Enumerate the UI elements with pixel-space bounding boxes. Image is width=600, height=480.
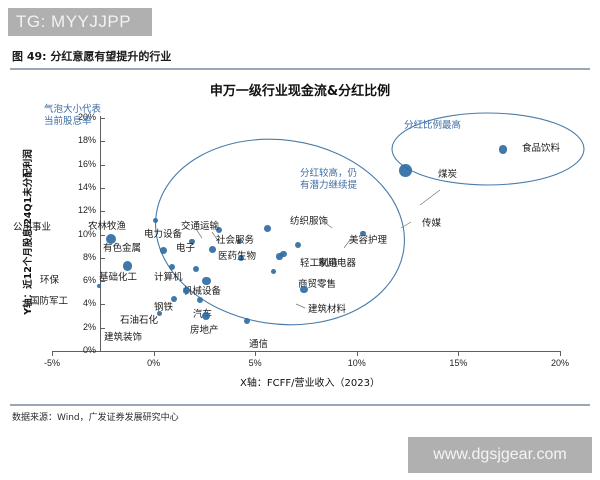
data-point-label: 传媒 — [422, 215, 441, 229]
data-point-bubble[interactable] — [97, 284, 101, 288]
data-point-label: 医药生物 — [218, 248, 256, 262]
data-point-bubble[interactable] — [360, 231, 366, 237]
y-tick-mark — [101, 165, 105, 166]
x-tick-label: 5% — [235, 358, 275, 368]
data-point-label: 国防军工 — [30, 293, 68, 307]
data-point-label: 家用电器 — [318, 255, 356, 269]
data-point-label: 食品饮料 — [522, 140, 560, 154]
highest-payout-annotation: 分红比例最高 — [404, 120, 461, 132]
data-point-bubble[interactable] — [244, 318, 250, 324]
y-tick-mark — [101, 304, 105, 305]
data-point-label: 有色金属 — [103, 240, 141, 254]
data-point-label: 石油石化 — [120, 312, 158, 326]
y-tick-label: 14% — [62, 182, 96, 192]
data-point-bubble[interactable] — [295, 242, 301, 248]
figure-root: TG: MYYJJPP 图 49: 分红意愿有望提升的行业 申万一级行业现金流&… — [0, 0, 600, 480]
data-point-label: 纺织服饰 — [290, 213, 328, 227]
figure-caption: 图 49: 分红意愿有望提升的行业 — [12, 48, 171, 64]
data-point-bubble[interactable] — [157, 311, 162, 316]
x-axis-title: X轴：FCFF/营业收入（2023） — [150, 374, 470, 389]
data-point-bubble[interactable] — [300, 286, 307, 293]
y-tick-mark — [101, 351, 105, 352]
x-tick-mark — [458, 352, 459, 356]
x-tick-label: -5% — [32, 358, 72, 368]
data-point-bubble[interactable] — [209, 246, 216, 253]
y-tick-mark — [101, 211, 105, 212]
data-point-bubble[interactable] — [264, 225, 271, 232]
y-tick-label: 6% — [62, 275, 96, 285]
footer-divider — [10, 404, 590, 406]
ellipse-overlay — [0, 0, 600, 480]
y-tick-label: 18% — [62, 135, 96, 145]
data-point-bubble[interactable] — [193, 266, 199, 272]
data-point-label: 电力设备 — [144, 226, 182, 240]
x-tick-label: 10% — [337, 358, 377, 368]
data-point-label: 公用事业 — [13, 219, 51, 233]
y-tick-label: 2% — [62, 322, 96, 332]
x-tick-mark — [560, 352, 561, 356]
x-tick-mark — [154, 352, 155, 356]
data-point-label: 建筑材料 — [308, 301, 346, 315]
x-tick-mark — [52, 352, 53, 356]
data-point-bubble[interactable] — [153, 218, 158, 223]
y-tick-mark — [101, 235, 105, 236]
data-point-bubble[interactable] — [399, 164, 412, 177]
data-point-bubble[interactable] — [171, 296, 177, 302]
y-tick-mark — [101, 118, 105, 119]
data-point-label: 农林牧渔 — [88, 218, 126, 232]
y-tick-mark — [101, 141, 105, 142]
x-axis-line — [52, 351, 561, 352]
bubble-size-note: 气泡大小代表 当前股息率 — [44, 104, 101, 128]
y-tick-label: 0% — [62, 345, 96, 355]
y-tick-label: 16% — [62, 159, 96, 169]
x-tick-mark — [255, 352, 256, 356]
data-point-label: 建筑装饰 — [104, 329, 142, 343]
y-tick-label: 8% — [62, 252, 96, 262]
bottom-watermark: www.dgsjgear.com — [408, 437, 592, 473]
data-point-label: 基础化工 — [99, 269, 137, 283]
data-point-label: 电子 — [176, 240, 195, 254]
x-tick-label: 20% — [540, 358, 580, 368]
data-point-label: 交通运输 — [181, 218, 219, 232]
y-tick-mark — [101, 258, 105, 259]
chart-title: 申万一级行业现金流&分红比例 — [0, 80, 600, 99]
top-watermark: TG: MYYJJPP — [8, 8, 152, 36]
data-point-label: 环保 — [40, 272, 59, 286]
data-point-label: 房地产 — [190, 322, 219, 336]
data-point-label: 计算机 — [154, 269, 183, 283]
x-tick-label: 15% — [438, 358, 478, 368]
data-point-bubble[interactable] — [197, 297, 203, 303]
data-point-label: 社会服务 — [216, 232, 254, 246]
potential-annotation: 分红较高，仍 有潜力继续提 — [300, 168, 357, 192]
data-point-bubble[interactable] — [499, 145, 507, 153]
x-tick-label: 0% — [134, 358, 174, 368]
data-point-label: 通信 — [249, 336, 268, 350]
y-tick-label: 12% — [62, 205, 96, 215]
caption-divider — [10, 68, 590, 70]
data-point-bubble[interactable] — [160, 247, 167, 254]
x-tick-mark — [357, 352, 358, 356]
data-point-label: 美容护理 — [349, 232, 387, 246]
data-point-bubble[interactable] — [271, 269, 276, 274]
y-tick-mark — [101, 188, 105, 189]
data-point-bubble[interactable] — [183, 287, 190, 294]
data-point-bubble[interactable] — [280, 251, 286, 257]
source-note: 数据来源：Wind，广发证券发展研究中心 — [12, 410, 179, 423]
data-point-label: 煤炭 — [438, 166, 457, 180]
